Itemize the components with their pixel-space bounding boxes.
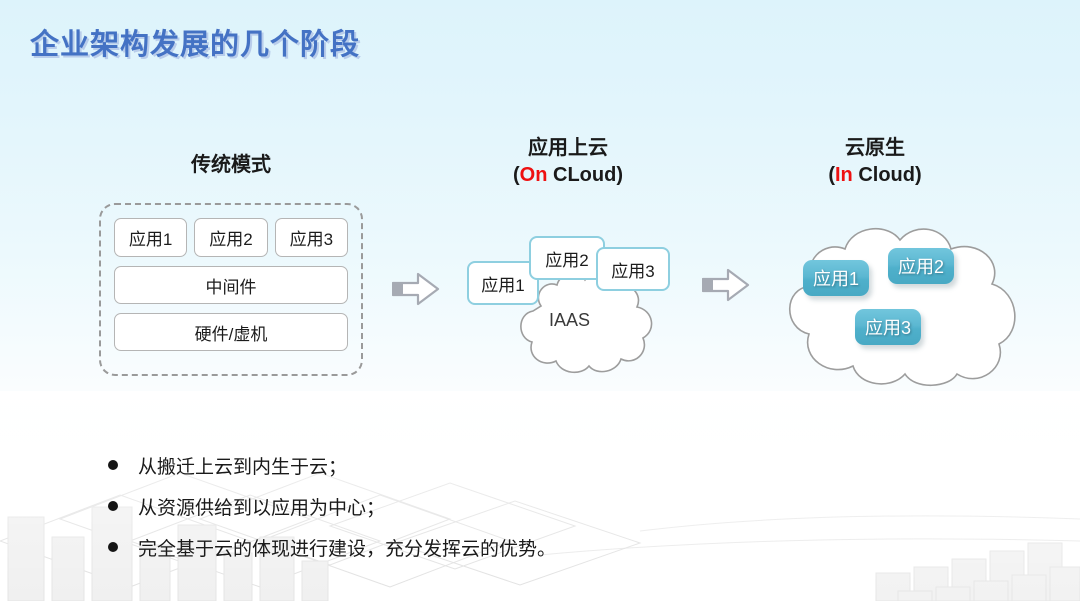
panel-heading-cloudnative: 云原生 (In Cloud) — [755, 135, 995, 189]
page-title: 企业架构发展的几个阶段 — [30, 21, 360, 63]
traditional-app-row: 应用1 应用2 应用3 — [114, 218, 348, 257]
bullet-item: 从资源供给到以应用为中心； — [108, 493, 668, 520]
panel-heading-oncloud: 应用上云 (On CLoud) — [448, 135, 688, 189]
arrow-oncloud-to-cloudnative — [702, 268, 750, 302]
bullet-dot-icon — [108, 460, 118, 470]
cloudnative-en-rest: Cloud) — [853, 164, 922, 186]
slide-canvas: 企业架构发展的几个阶段 传统模式 应用1 应用2 应用3 中间件 硬件/虚机 应… — [0, 0, 1080, 601]
oncloud-app-3[interactable]: 应用3 — [596, 247, 670, 291]
traditional-app-3[interactable]: 应用3 — [275, 218, 348, 257]
iaas-cloud-label: IAAS — [549, 310, 590, 331]
panel-heading-traditional-cn: 传统模式 — [99, 152, 363, 179]
bullet-item: 完全基于云的体现进行建设，充分发挥云的优势。 — [108, 534, 668, 561]
bullet-dot-icon — [108, 501, 118, 511]
traditional-app-2[interactable]: 应用2 — [194, 218, 267, 257]
cloudnative-cloud-group — [757, 216, 1027, 388]
oncloud-en-rest: CLoud) — [547, 164, 623, 186]
oncloud-keyword-on: On — [520, 164, 548, 186]
oncloud-app-2[interactable]: 应用2 — [529, 236, 605, 280]
panel-heading-cloudnative-cn: 云原生 — [755, 135, 995, 162]
bullet-text: 从搬迁上云到内生于云； — [138, 452, 347, 479]
traditional-app-1[interactable]: 应用1 — [114, 218, 187, 257]
bullet-text: 从资源供给到以应用为中心； — [138, 493, 385, 520]
traditional-layer-middleware[interactable]: 中间件 — [114, 266, 348, 304]
traditional-stack-container: 应用1 应用2 应用3 中间件 硬件/虚机 — [99, 203, 363, 376]
traditional-layer-hardware[interactable]: 硬件/虚机 — [114, 313, 348, 351]
panel-heading-oncloud-cn: 应用上云 — [448, 135, 688, 162]
cloudnative-app-3[interactable]: 应用3 — [855, 309, 921, 345]
cloudnative-app-2[interactable]: 应用2 — [888, 248, 954, 284]
panel-heading-cloudnative-en: (In Cloud) — [755, 162, 995, 189]
panel-heading-traditional: 传统模式 — [99, 152, 363, 179]
bullet-dot-icon — [108, 542, 118, 552]
bullet-text: 完全基于云的体现进行建设，充分发挥云的优势。 — [138, 534, 556, 561]
cloudnative-paren-open: ( — [828, 164, 835, 186]
panel-heading-oncloud-en: (On CLoud) — [448, 162, 688, 189]
cloudnative-app-1[interactable]: 应用1 — [803, 260, 869, 296]
bullet-list: 从搬迁上云到内生于云； 从资源供给到以应用为中心； 完全基于云的体现进行建设，充… — [108, 452, 668, 575]
arrow-traditional-to-oncloud — [392, 272, 440, 306]
oncloud-paren-open: ( — [513, 164, 520, 186]
bullet-item: 从搬迁上云到内生于云； — [108, 452, 668, 479]
cloudnative-cloud-icon — [757, 216, 1027, 388]
cloudnative-keyword-in: In — [835, 164, 853, 186]
